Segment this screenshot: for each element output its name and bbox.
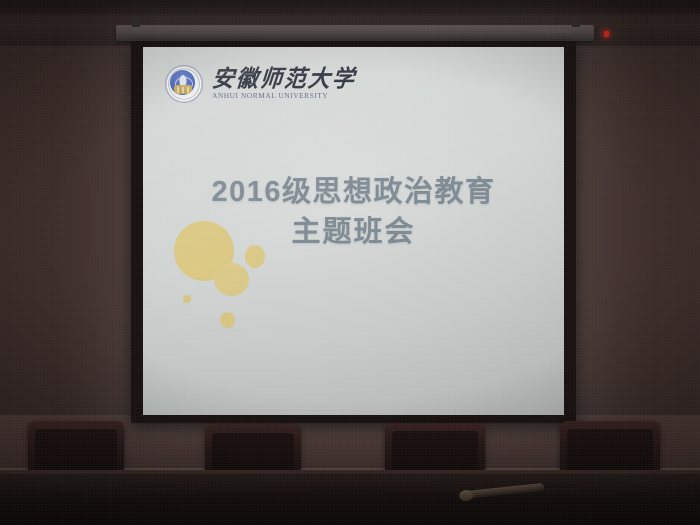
- decorative-circle-medium: [214, 263, 249, 296]
- chair-backrest: [392, 431, 478, 473]
- emblem-pillar-left: [177, 87, 179, 93]
- chair-backrest: [212, 433, 294, 473]
- room-scene: Trump Screen: [0, 0, 700, 525]
- power-led-indicator: [604, 31, 609, 37]
- housing-bracket-left: [132, 18, 140, 27]
- emblem-core: [170, 70, 195, 95]
- projection-screen-surface[interactable]: 安徽师范大学 ANHUI NORMAL UNIVERSITY 2016级思想政治…: [143, 47, 564, 415]
- ceiling-edge: [0, 0, 700, 14]
- emblem-pillar-right: [187, 87, 189, 93]
- emblem-pillar-center: [182, 87, 184, 93]
- housing-brand-label: Trump Screen: [534, 29, 570, 35]
- university-name-block: 安徽师范大学 ANHUI NORMAL UNIVERSITY: [212, 68, 356, 100]
- conference-table: [0, 474, 700, 525]
- slide-title-line-1: 2016级思想政治教育: [143, 172, 564, 212]
- projection-screen-frame: 安徽师范大学 ANHUI NORMAL UNIVERSITY 2016级思想政治…: [131, 41, 576, 423]
- decorative-circle-small-lower: [220, 312, 235, 328]
- presentation-slide: 安徽师范大学 ANHUI NORMAL UNIVERSITY 2016级思想政治…: [143, 47, 564, 415]
- screen-roller-housing[interactable]: [116, 25, 594, 41]
- university-name-cn: 安徽师范大学: [211, 67, 357, 91]
- slide-title: 2016级思想政治教育 主题班会: [143, 172, 564, 252]
- housing-bracket-right: [572, 18, 580, 27]
- chair-backrest: [35, 429, 117, 473]
- university-name-en: ANHUI NORMAL UNIVERSITY: [212, 91, 356, 100]
- decorative-circle-tiny: [183, 295, 191, 303]
- slide-title-line-2: 主题班会: [143, 212, 564, 252]
- university-emblem-icon: [165, 65, 203, 103]
- chair-backrest: [567, 429, 653, 473]
- university-logo: 安徽师范大学 ANHUI NORMAL UNIVERSITY: [165, 65, 356, 103]
